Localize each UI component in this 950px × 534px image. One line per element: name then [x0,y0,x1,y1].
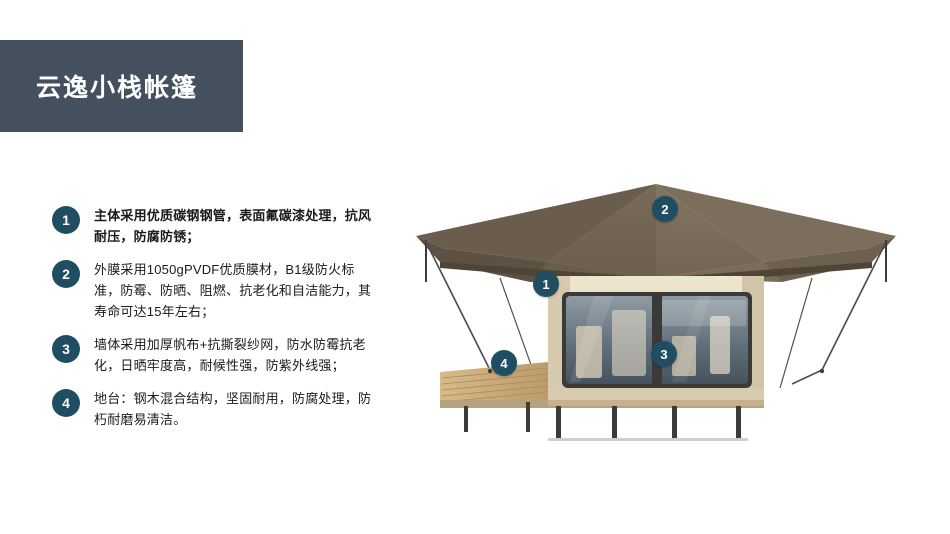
feature-item-3: 3 墙体采用加厚帆布+抗撕裂纱网，防水防霉抗老化，日晒牢度高，耐候性强，防紫外线… [52,334,372,376]
feature-item-2: 2 外膜采用1050gPVDF优质膜材，B1级防火标准，防霉、防晒、阻燃、抗老化… [52,259,372,322]
feature-badge-3: 3 [52,335,80,363]
callout-marker-4: 4 [491,350,517,376]
page-title: 云逸小栈帐篷 [0,68,198,104]
feature-badge-1: 1 [52,206,80,234]
glamping-tent-photo [380,150,940,450]
feature-item-1: 1 主体采用优质碳钢钢管，表面氟碳漆处理，抗风耐压，防腐防锈； [52,205,372,247]
feature-text-2: 外膜采用1050gPVDF优质膜材，B1级防火标准，防霉、防晒、阻燃、抗老化和自… [94,259,372,322]
title-block: 云逸小栈帐篷 [0,40,243,132]
feature-text-3: 墙体采用加厚帆布+抗撕裂纱网，防水防霉抗老化，日晒牢度高，耐候性强，防紫外线强； [94,334,372,376]
feature-item-4: 4 地台：钢木混合结构，坚固耐用，防腐处理，防朽耐磨易清洁。 [52,388,372,430]
feature-badge-4: 4 [52,389,80,417]
feature-badge-2: 2 [52,260,80,288]
feature-list: 1 主体采用优质碳钢钢管，表面氟碳漆处理，抗风耐压，防腐防锈； 2 外膜采用10… [52,205,372,442]
slide-root: 云逸小栈帐篷 1 主体采用优质碳钢钢管，表面氟碳漆处理，抗风耐压，防腐防锈； 2… [0,0,950,534]
callout-marker-2: 2 [652,196,678,222]
callout-marker-1: 1 [533,271,559,297]
feature-text-1: 主体采用优质碳钢钢管，表面氟碳漆处理，抗风耐压，防腐防锈； [94,205,372,247]
feature-text-4: 地台：钢木混合结构，坚固耐用，防腐处理，防朽耐磨易清洁。 [94,388,372,430]
callout-marker-3: 3 [651,341,677,367]
